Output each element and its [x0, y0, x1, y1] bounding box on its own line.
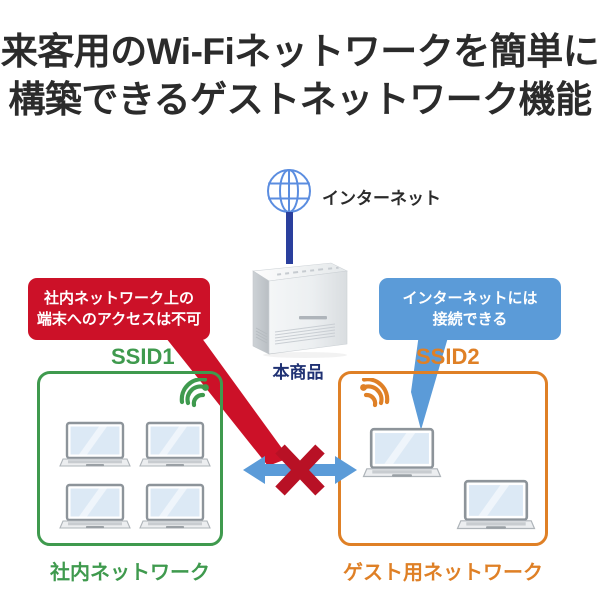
title-line-1: 来客用のWi-Fiネットワークを簡単に [0, 28, 600, 76]
laptop-device [139, 421, 211, 476]
callout-red-line-2: 端末へのアクセスは不可 [37, 309, 201, 330]
router-brand-logo [299, 316, 327, 319]
internet-label: インターネット [322, 184, 441, 209]
laptop-device [59, 483, 131, 538]
wifi-signal-icon [172, 378, 212, 420]
ssid2-label: SSID2 [416, 344, 480, 370]
callout-blue-line-2: 接続できる [433, 309, 508, 330]
laptop-device [139, 483, 211, 538]
wifi-signal-icon [357, 378, 397, 420]
page-title: 来客用のWi-Fiネットワークを簡単に 構築できるゲストネットワーク機能 [0, 28, 600, 124]
callout-blue-line-1: インターネットには [402, 288, 537, 309]
laptop-device [59, 421, 131, 476]
diagram-canvas: 来客用のWi-Fiネットワークを簡単に 構築できるゲストネットワーク機能 インタ… [0, 0, 600, 600]
ssid1-label: SSID1 [111, 344, 175, 370]
callout-internet-allowed: インターネットには 接続できる [379, 278, 561, 340]
laptop-device [456, 479, 536, 539]
router-device-image [243, 258, 353, 358]
internet-uplink-line [286, 212, 293, 264]
callout-red-line-1: 社内ネットワーク上の [44, 288, 194, 309]
globe-icon [265, 168, 313, 216]
blocked-connection-indicator [243, 440, 357, 500]
callout-blocked-access: 社内ネットワーク上の 端末へのアクセスは不可 [28, 278, 210, 340]
router-label: 本商品 [243, 358, 353, 383]
title-line-2: 構築できるゲストネットワーク機能 [0, 76, 600, 124]
guest-network-label: ゲスト用ネットワーク [337, 556, 549, 585]
internal-network-label: 社内ネットワーク [36, 556, 224, 585]
laptop-device [362, 427, 442, 487]
